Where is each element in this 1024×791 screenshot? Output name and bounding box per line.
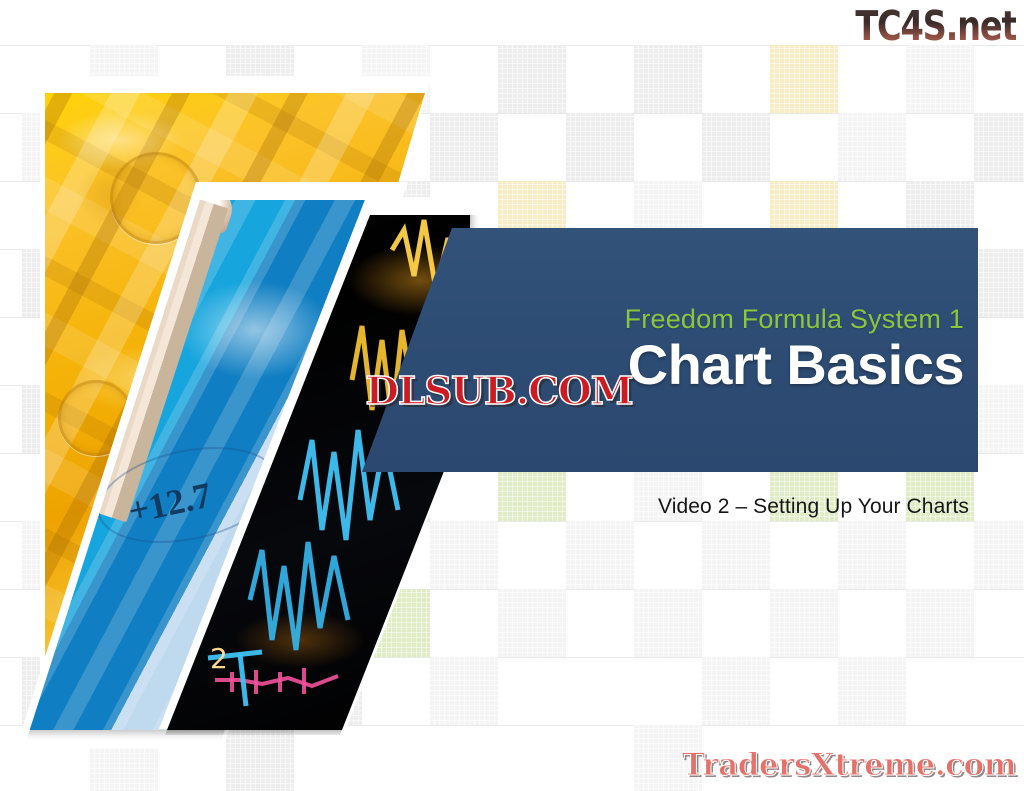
background-cell bbox=[634, 589, 702, 657]
background-cell bbox=[498, 589, 566, 657]
svg-text:2: 2 bbox=[210, 642, 228, 675]
background-cell bbox=[838, 521, 906, 589]
slide-subtitle: Freedom Formula System 1 bbox=[625, 305, 964, 335]
background-cell bbox=[906, 45, 974, 113]
tradersxtreme-watermark: TradersXtreme.com bbox=[682, 747, 1016, 783]
dlsub-watermark: DLSUB.COM bbox=[365, 368, 632, 413]
slide-canvas: +12.7 bbox=[0, 0, 1024, 791]
background-cell bbox=[838, 113, 906, 181]
background-cell bbox=[702, 657, 770, 725]
background-cell bbox=[566, 521, 634, 589]
background-cell bbox=[838, 657, 906, 725]
background-cell bbox=[974, 385, 1024, 453]
slide-caption: Video 2 – Setting Up Your Charts bbox=[524, 495, 969, 519]
background-cell bbox=[974, 249, 1024, 317]
background-cell bbox=[634, 45, 702, 113]
background-cell bbox=[702, 521, 770, 589]
background-cell bbox=[770, 45, 838, 113]
background-cell bbox=[974, 521, 1024, 589]
slide-title: Chart Basics bbox=[628, 336, 964, 395]
background-cell bbox=[770, 589, 838, 657]
background-cell bbox=[906, 589, 974, 657]
background-cell bbox=[702, 113, 770, 181]
background-cell bbox=[974, 113, 1024, 181]
background-cell bbox=[498, 45, 566, 113]
background-cell bbox=[226, 725, 294, 791]
background-cell bbox=[566, 113, 634, 181]
title-banner-text: Freedom Formula System 1 Chart Basics bbox=[300, 228, 978, 472]
tc4s-watermark: TC4S.net bbox=[855, 2, 1016, 50]
